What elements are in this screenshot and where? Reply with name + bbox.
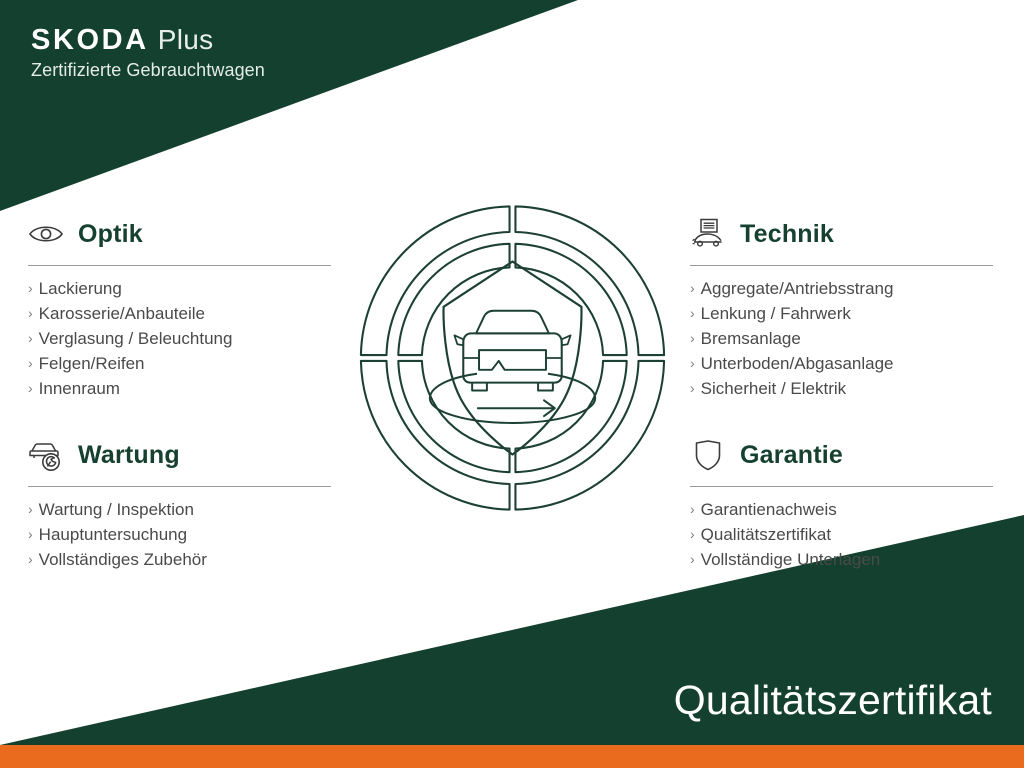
- list-item-label: Vollständiges Zubehör: [39, 547, 207, 572]
- chevron-right-icon: ›: [28, 376, 33, 401]
- brand-logo: SKODA Plus Zertifizierte Gebrauchtwagen: [31, 26, 451, 81]
- list-item-label: Qualitätszertifikat: [701, 522, 831, 547]
- chevron-right-icon: ›: [28, 326, 33, 351]
- chevron-right-icon: ›: [690, 301, 695, 326]
- list-item: ›Innenraum: [28, 376, 331, 401]
- brand-suffix: Plus: [158, 26, 214, 54]
- list-item-label: Lackierung: [39, 276, 122, 301]
- list-item: ›Unterboden/Abgasanlage: [690, 351, 993, 376]
- section-garantie-header: Garantie: [690, 433, 993, 477]
- list-item: ›Felgen/Reifen: [28, 351, 331, 376]
- chevron-right-icon: ›: [690, 276, 695, 301]
- list-item-label: Verglasung / Beleuchtung: [39, 326, 233, 351]
- certified-vehicle-shield-emblem: [355, 198, 670, 518]
- section-wartung-divider: [28, 486, 331, 487]
- list-item-label: Innenraum: [39, 376, 120, 401]
- list-item: ›Sicherheit / Elektrik: [690, 376, 993, 401]
- car-wrench-icon: [28, 439, 64, 471]
- left-column: Optik ›Lackierung ›Karosserie/Anbauteile…: [28, 212, 331, 572]
- section-wartung-list: ›Wartung / Inspektion ›Hauptuntersuchung…: [28, 497, 331, 572]
- list-item-label: Lenkung / Fahrwerk: [701, 301, 851, 326]
- list-item: ›Karosserie/Anbauteile: [28, 301, 331, 326]
- list-item: ›Qualitätszertifikat: [690, 522, 993, 547]
- chevron-right-icon: ›: [28, 351, 33, 376]
- chevron-right-icon: ›: [690, 326, 695, 351]
- chevron-right-icon: ›: [28, 276, 33, 301]
- section-garantie-title: Garantie: [740, 443, 843, 468]
- eye-icon: [28, 218, 64, 250]
- chevron-right-icon: ›: [690, 497, 695, 522]
- section-wartung-title: Wartung: [78, 443, 180, 468]
- brand-tagline: Zertifizierte Gebrauchtwagen: [31, 60, 451, 81]
- section-technik-title: Technik: [740, 222, 834, 247]
- list-item: ›Lenkung / Fahrwerk: [690, 301, 993, 326]
- section-garantie: Garantie ›Garantienachweis ›Qualitätszer…: [690, 433, 993, 572]
- section-optik-divider: [28, 265, 331, 266]
- list-item: ›Vollständige Unterlagen: [690, 547, 993, 572]
- section-garantie-list: ›Garantienachweis ›Qualitätszertifikat ›…: [690, 497, 993, 572]
- list-item: ›Vollständiges Zubehör: [28, 547, 331, 572]
- list-item-label: Karosserie/Anbauteile: [39, 301, 205, 326]
- list-item-label: Vollständige Unterlagen: [701, 547, 881, 572]
- chevron-right-icon: ›: [690, 376, 695, 401]
- list-item: ›Lackierung: [28, 276, 331, 301]
- brand-name: SKODA: [31, 26, 149, 55]
- section-technik: Technik ›Aggregate/Antriebsstrang ›Lenku…: [690, 212, 993, 401]
- list-item-label: Sicherheit / Elektrik: [701, 376, 847, 401]
- chevron-right-icon: ›: [28, 301, 33, 326]
- section-technik-header: Technik: [690, 212, 993, 256]
- list-item: ›Hauptuntersuchung: [28, 522, 331, 547]
- list-item-label: Hauptuntersuchung: [39, 522, 187, 547]
- list-item: ›Verglasung / Beleuchtung: [28, 326, 331, 351]
- section-technik-divider: [690, 265, 993, 266]
- section-optik-header: Optik: [28, 212, 331, 256]
- shield-icon: [690, 439, 726, 471]
- chevron-right-icon: ›: [28, 497, 33, 522]
- section-garantie-divider: [690, 486, 993, 487]
- list-item-label: Wartung / Inspektion: [39, 497, 194, 522]
- section-technik-list: ›Aggregate/Antriebsstrang ›Lenkung / Fah…: [690, 276, 993, 401]
- list-item: ›Aggregate/Antriebsstrang: [690, 276, 993, 301]
- chevron-right-icon: ›: [28, 522, 33, 547]
- chevron-right-icon: ›: [690, 522, 695, 547]
- chevron-right-icon: ›: [28, 547, 33, 572]
- section-optik-list: ›Lackierung ›Karosserie/Anbauteile ›Verg…: [28, 276, 331, 401]
- section-wartung: Wartung ›Wartung / Inspektion ›Hauptunte…: [28, 433, 331, 572]
- footer-title: Qualitätszertifikat: [674, 680, 992, 721]
- right-column: Technik ›Aggregate/Antriebsstrang ›Lenku…: [690, 212, 993, 572]
- chevron-right-icon: ›: [690, 351, 695, 376]
- list-item-label: Garantienachweis: [701, 497, 837, 522]
- certificate-poster: SKODA Plus Zertifizierte Gebrauchtwagen …: [0, 0, 1024, 768]
- list-item: ›Garantienachweis: [690, 497, 993, 522]
- car-document-icon: [690, 218, 726, 250]
- section-optik: Optik ›Lackierung ›Karosserie/Anbauteile…: [28, 212, 331, 401]
- list-item: ›Bremsanlage: [690, 326, 993, 351]
- list-item: ›Wartung / Inspektion: [28, 497, 331, 522]
- list-item-label: Felgen/Reifen: [39, 351, 145, 376]
- list-item-label: Bremsanlage: [701, 326, 801, 351]
- section-optik-title: Optik: [78, 222, 143, 247]
- list-item-label: Unterboden/Abgasanlage: [701, 351, 894, 376]
- orange-accent-bar: [0, 745, 1024, 768]
- list-item-label: Aggregate/Antriebsstrang: [701, 276, 894, 301]
- section-wartung-header: Wartung: [28, 433, 331, 477]
- chevron-right-icon: ›: [690, 547, 695, 572]
